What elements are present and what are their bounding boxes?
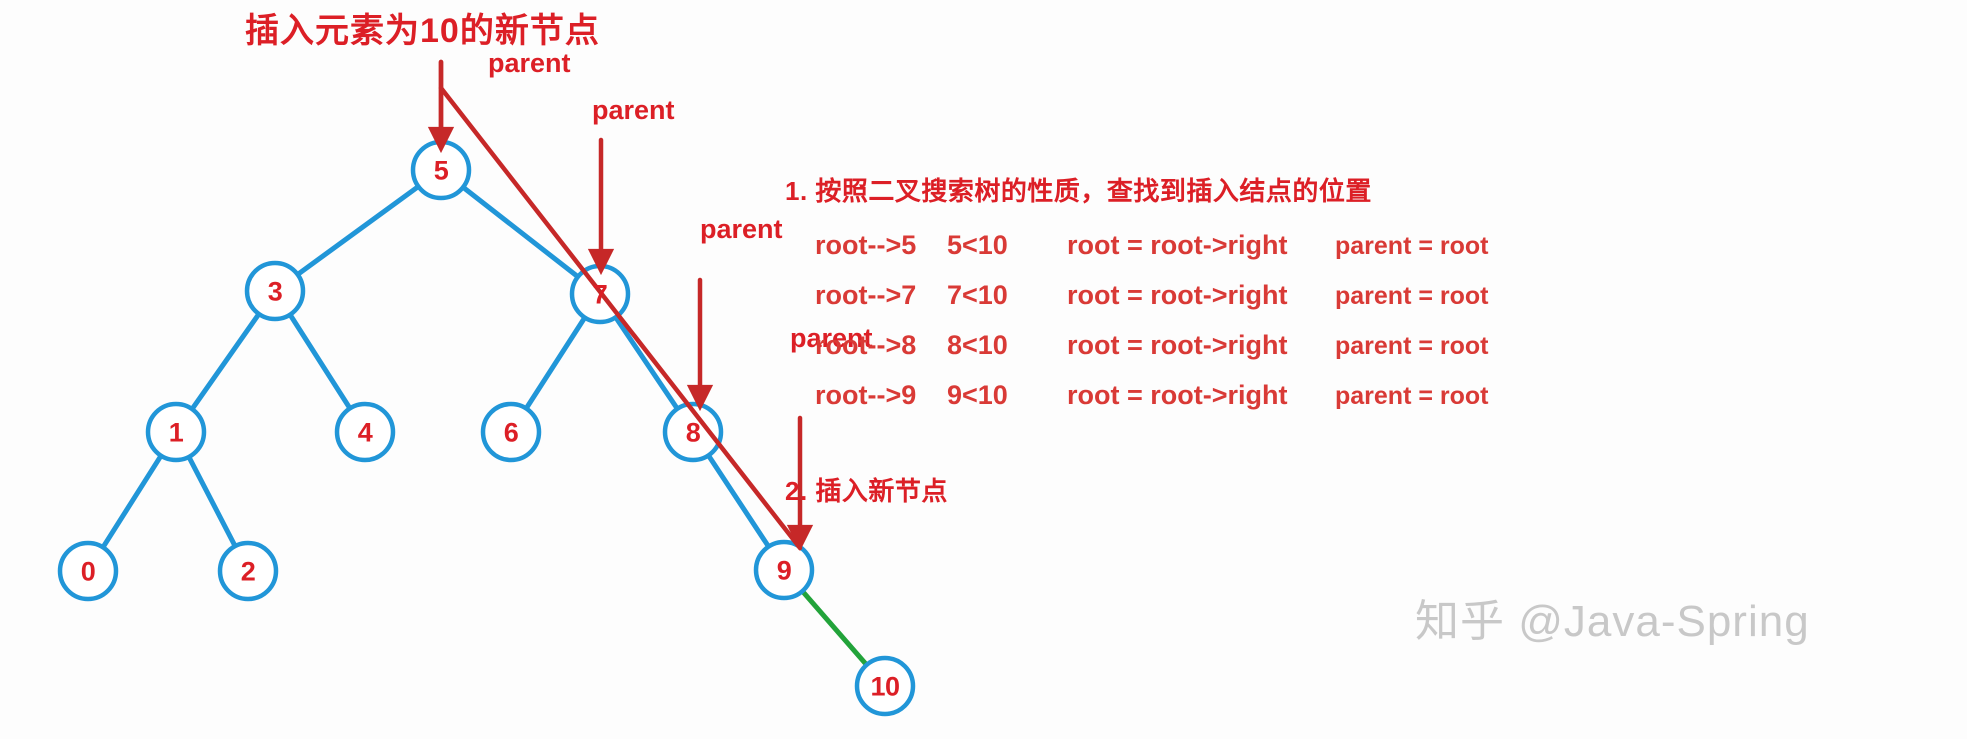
tree-edge-n7-n6 (526, 318, 585, 409)
trace-row: root-->77<10root = root->rightparent = r… (815, 282, 1489, 309)
trace-assign: root = root->right (1067, 282, 1335, 309)
tree-edge-n5-n7 (463, 187, 578, 277)
tree-node-label-9: 9 (777, 558, 792, 585)
trace-row: root-->88<10root = root->rightparent = r… (815, 332, 1489, 359)
tree-graphic (0, 0, 1100, 739)
parent-label-1: parent (488, 50, 571, 77)
trace-parent: parent = root (1335, 384, 1489, 409)
trace-parent: parent = root (1335, 234, 1489, 259)
parent-label-2: parent (592, 97, 675, 124)
tree-node-label-5: 5 (434, 158, 449, 185)
trace-row: root-->55<10root = root->rightparent = r… (815, 232, 1489, 259)
trace-step: root-->9 (815, 382, 947, 409)
parent-label-3: parent (700, 216, 783, 243)
sweep-line (441, 88, 800, 548)
trace-step: root-->5 (815, 232, 947, 259)
trace-assign: root = root->right (1067, 332, 1335, 359)
tree-edge-n9-n10 (802, 591, 866, 665)
trace-compare: 8<10 (947, 332, 1067, 359)
trace-step: root-->7 (815, 282, 947, 309)
tree-edge-n3-n1 (192, 314, 259, 409)
diagram-title: 插入元素为10的新节点 (245, 14, 600, 48)
trace-step: root-->8 (815, 332, 947, 359)
tree-edge-n7-n8 (616, 317, 678, 409)
trace-parent: parent = root (1335, 284, 1489, 309)
tree-node-label-0: 0 (81, 559, 96, 586)
trace-compare: 9<10 (947, 382, 1067, 409)
tree-edge-n3-n4 (290, 315, 350, 409)
tree-node-label-3: 3 (268, 279, 283, 306)
tree-edge-n1-n0 (103, 456, 161, 548)
tree-node-label-7: 7 (593, 282, 608, 309)
trace-assign: root = root->right (1067, 382, 1335, 409)
trace-compare: 5<10 (947, 232, 1067, 259)
tree-node-label-4: 4 (358, 420, 373, 447)
tree-node-label-6: 6 (504, 420, 519, 447)
step-2-heading: 2. 插入新节点 (785, 478, 948, 504)
trace-compare: 7<10 (947, 282, 1067, 309)
step-1-heading: 1. 按照二叉搜索树的性质，查找到插入结点的位置 (785, 178, 1372, 204)
new-node-edge (802, 591, 866, 665)
tree-node-label-8: 8 (686, 420, 701, 447)
trace-row: root-->99<10root = root->rightparent = r… (815, 382, 1489, 409)
tree-node-label-1: 1 (169, 420, 184, 447)
tree-nodes (60, 142, 913, 714)
watermark: 知乎 @Java-Spring (1415, 600, 1810, 644)
trace-parent: parent = root (1335, 334, 1489, 359)
trace-assign: root = root->right (1067, 232, 1335, 259)
diagram-canvas: 537146802910 插入元素为10的新节点 parent parent p… (0, 0, 1967, 739)
tree-edge-n5-n3 (298, 186, 419, 274)
tree-edges (103, 186, 769, 547)
tree-node-label-10: 10 (870, 674, 899, 701)
tree-node-label-2: 2 (241, 559, 256, 586)
tree-edge-n1-n2 (189, 457, 235, 546)
